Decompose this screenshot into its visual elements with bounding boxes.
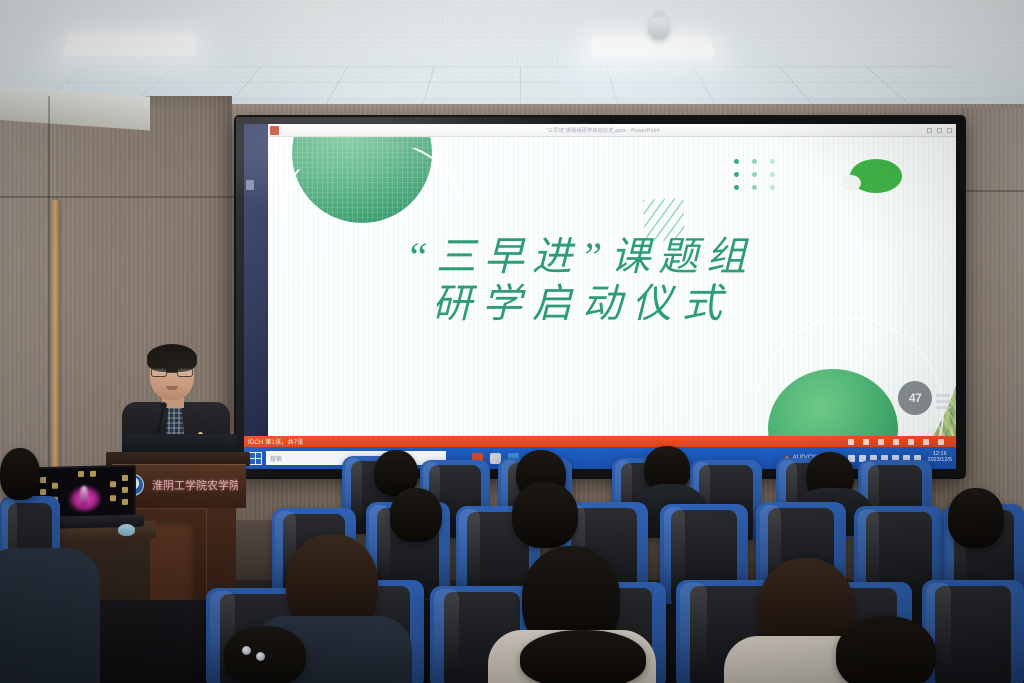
powerpoint-logo-icon: [270, 126, 279, 135]
slide-title: “三早进”课题组 研学启动仪式: [320, 233, 840, 328]
maximize-icon[interactable]: [937, 128, 942, 133]
hair-clip: [256, 652, 265, 661]
close-icon[interactable]: [947, 128, 952, 133]
slide-title-line-1: “三早进”课题组: [320, 233, 840, 280]
powerpoint-window-title: “三早进”课题组研学启动仪式.pptx - PowerPoint: [279, 127, 927, 134]
window-controls[interactable]: [927, 128, 952, 133]
hair-clip: [242, 646, 251, 655]
presenter-glasses: [151, 368, 193, 378]
ceiling-dome-speaker: [649, 15, 669, 39]
seat[interactable]: [922, 580, 1024, 683]
conference-hall-photo: “三早进”课题组研学启动仪式.pptx - PowerPoint: [0, 0, 1024, 683]
projection-screen[interactable]: “三早进”课题组研学启动仪式.pptx - PowerPoint: [244, 124, 956, 469]
audience-head: [390, 488, 442, 542]
audience-head: [520, 630, 646, 683]
ceiling-panel-light: [62, 33, 197, 56]
audience-head: [224, 626, 306, 683]
wall-seam: [0, 196, 236, 198]
desktop-background-strip: [244, 124, 268, 469]
audience-head: [0, 448, 40, 500]
powerpoint-title-bar: “三早进”课题组研学启动仪式.pptx - PowerPoint: [268, 124, 956, 137]
slide-counter-badge[interactable]: 47: [898, 381, 932, 415]
audience-head: [512, 482, 578, 548]
audience-seating: [0, 430, 1024, 683]
wall-seam: [960, 190, 1024, 192]
presentation-slide[interactable]: “三早进”课题组 研学启动仪式 47: [268, 137, 956, 447]
ceiling-panel-light: [592, 35, 715, 57]
decorative-white-dot: [841, 175, 861, 191]
audience-shoulders: [0, 548, 100, 683]
slide-title-line-2: 研学启动仪式: [320, 280, 840, 328]
slide-toolbar-lines[interactable]: [936, 394, 950, 409]
decorative-dot-grid: [734, 159, 780, 190]
audience-head: [836, 616, 936, 683]
minimize-icon[interactable]: [927, 128, 932, 133]
audience-head: [948, 488, 1004, 548]
